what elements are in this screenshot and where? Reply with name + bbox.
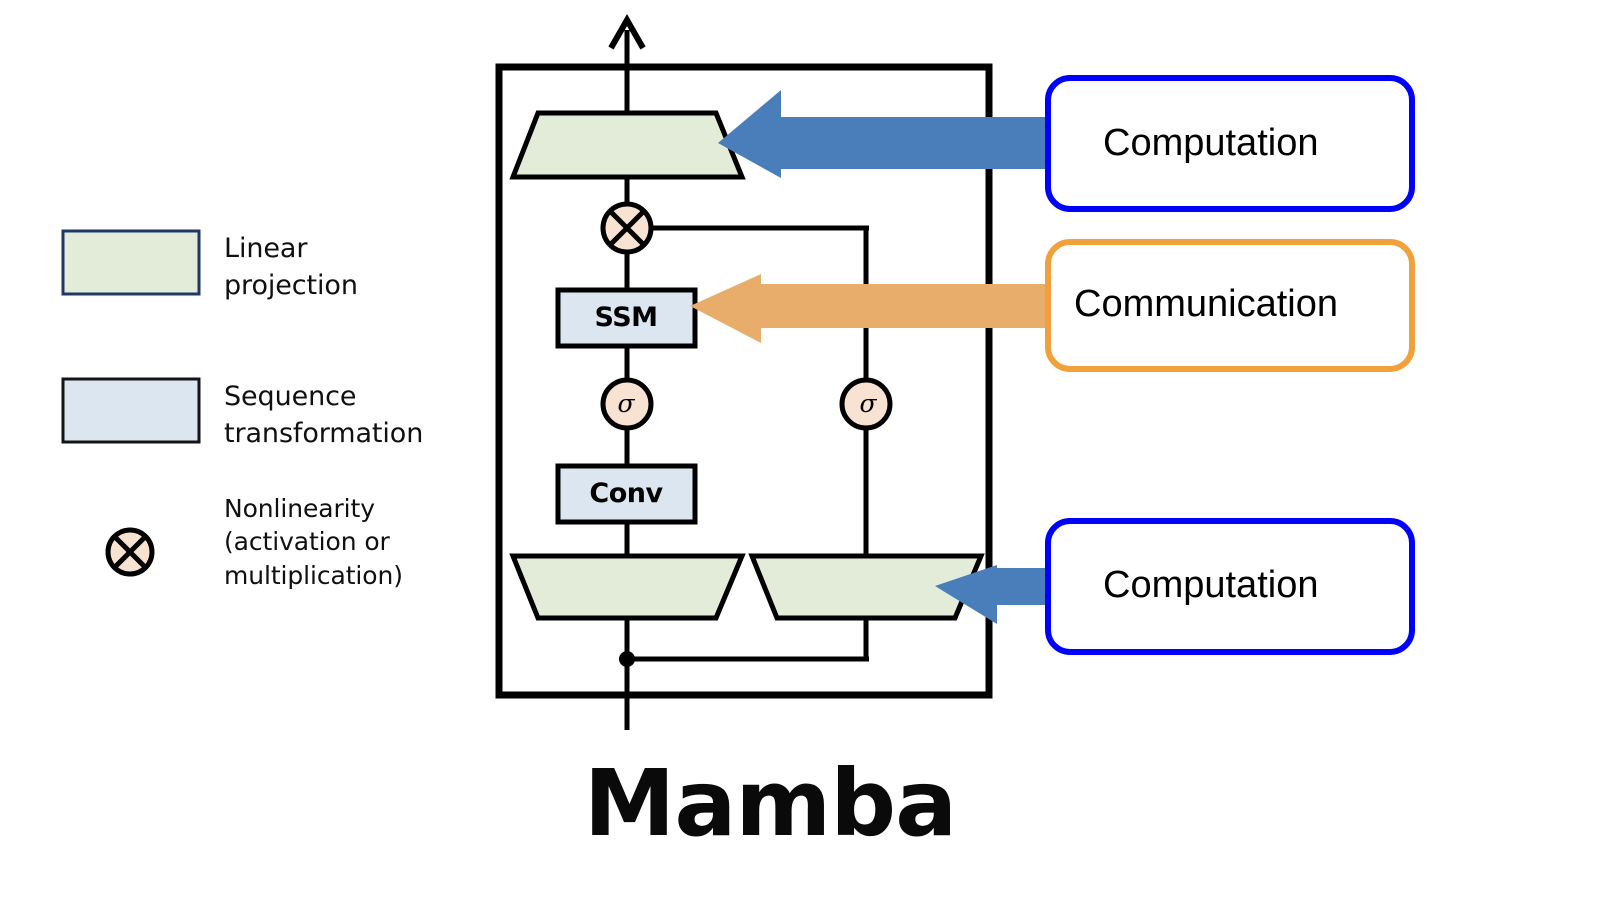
callout-label-communication: Communication [1074,283,1338,326]
linear-projection-swatch [63,231,199,294]
nonlinearity-swatch [108,530,152,574]
callout-label-computation-top: Computation [1103,122,1318,165]
page-title: Mamba [500,750,1040,857]
legend-label-linear-projection: Linear projection [224,231,474,304]
branch-junction-dot [619,651,635,667]
block-label-conv: Conv [557,478,695,509]
diagram-canvas: Linear projection Sequence transformatio… [0,0,1600,905]
block-multiply [603,204,651,252]
block-label-sigma-right: σ [842,389,894,418]
callout-label-computation-bottom: Computation [1103,564,1318,607]
sequence-transformation-swatch [63,379,199,442]
block-out-proj [513,113,742,177]
block-in-proj-left [513,556,742,618]
arrow-computation-top [718,90,1046,178]
block-label-sigma-left: σ [600,389,652,418]
legend-label-nonlinearity: Nonlinearity (activation or multiplicati… [224,492,484,592]
block-label-ssm: SSM [557,302,695,333]
legend-label-sequence-transformation: Sequence transformation [224,379,484,452]
